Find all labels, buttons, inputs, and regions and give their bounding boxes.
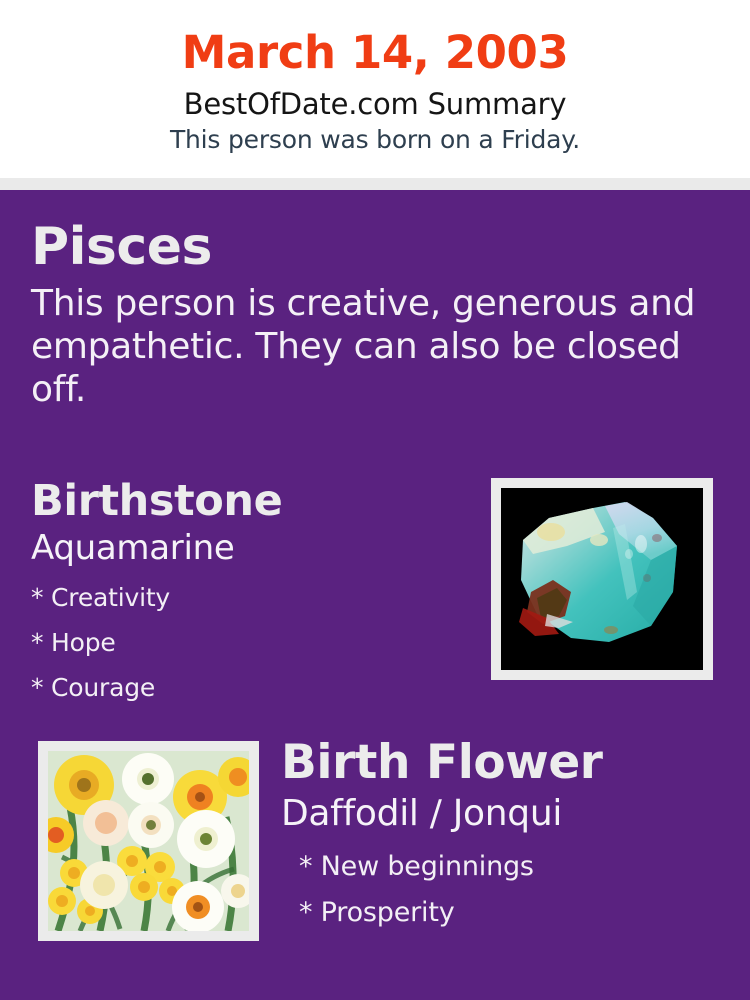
zodiac-description: This person is creative, generous and em… [31,278,703,411]
birthstone-image-inner [501,488,703,670]
birth-flower-section: Birth Flower Daffodil / Jonqui * New beg… [281,735,731,936]
list-item: * Courage [31,665,461,710]
birth-flower-name: Daffodil / Jonqui [281,791,731,836]
list-item: * Prosperity [299,890,731,936]
birth-flower-title: Birth Flower [281,735,731,791]
birthstone-image [491,478,713,680]
birthdate-summary-card: March 14, 2003 BestOfDate.com Summary Th… [0,0,750,1000]
header-divider [0,178,750,190]
page-title: March 14, 2003 [0,0,750,80]
zodiac-sign-title: Pisces [31,216,711,278]
summary-panel: Pisces This person is creative, generous… [0,190,750,1000]
birthstone-section: Birthstone Aquamarine * Creativity * Hop… [31,475,461,710]
birth-flower-image [38,741,259,941]
list-item: * Hope [31,620,461,665]
birthstone-name: Aquamarine [31,527,461,569]
aquamarine-crystal-icon [501,488,703,670]
zodiac-section: Pisces This person is creative, generous… [31,216,711,411]
daffodil-flowers-icon [48,751,249,931]
birthstone-title: Birthstone [31,475,461,527]
site-summary-label: BestOfDate.com Summary [0,80,750,121]
birth-flower-image-inner [48,751,249,931]
birth-weekday-note: This person was born on a Friday. [0,121,750,155]
birthstone-traits-list: * Creativity * Hope * Courage [31,569,461,710]
birth-flower-traits-list: * New beginnings * Prosperity [281,836,731,936]
card-header: March 14, 2003 BestOfDate.com Summary Th… [0,0,750,178]
list-item: * Creativity [31,575,461,620]
list-item: * New beginnings [299,844,731,890]
